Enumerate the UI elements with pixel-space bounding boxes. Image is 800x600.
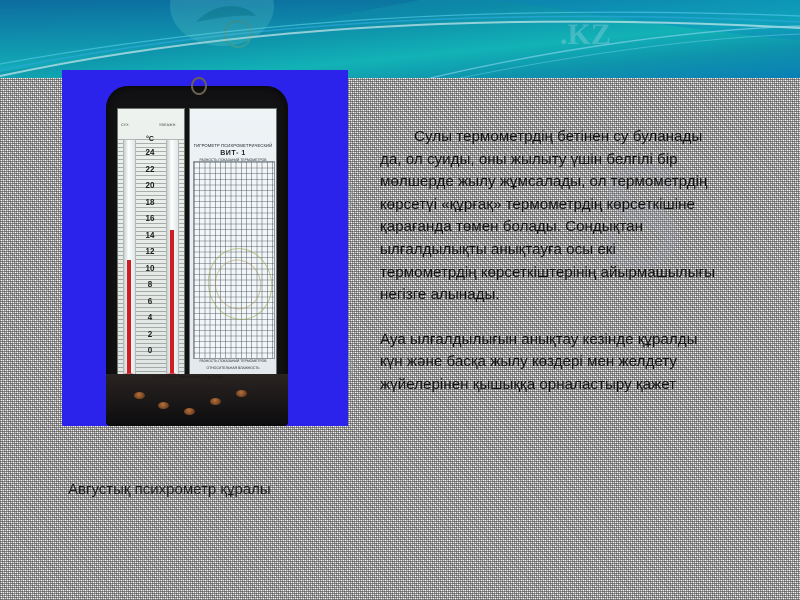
temperature-unit: °C	[137, 135, 163, 145]
slide-header-banner: .KZ	[0, 0, 800, 78]
device-model-label: ВИТ- 1	[190, 150, 276, 157]
wet-thermometer	[166, 139, 179, 379]
scale-tick-value: 22	[137, 162, 163, 179]
humidity-lookup-table	[193, 161, 275, 359]
scale-tick-value: 18	[137, 195, 163, 212]
scale-tick-value: 12	[137, 244, 163, 261]
scale-tick-value: 24	[137, 145, 163, 162]
device-type-title: ГИГРОМЕТР ПСИХРОМЕТРИЧЕСКИЙ	[190, 143, 276, 148]
svg-text:.KZ: .KZ	[560, 18, 611, 51]
scale-tick-value: 2	[137, 327, 163, 344]
photo-caption: Августық психрометр құралы	[68, 481, 358, 498]
scale-tick-value: 4	[137, 310, 163, 327]
scale-tick-value: 10	[137, 261, 163, 278]
thermometer-panel: СУХ. УВЛАЖН. °C 24 22 20 18 16	[117, 108, 185, 390]
scale-tick-value: 0	[137, 343, 163, 360]
scale-tick-value: 14	[137, 228, 163, 245]
vent-hole	[158, 402, 169, 409]
banner-graphic: .KZ	[0, 0, 800, 78]
scale-tick-value: 8	[137, 277, 163, 294]
scale-tick-value: 16	[137, 211, 163, 228]
table-footer-note-2: ОТНОСИТЕЛЬНАЯ ВЛАЖНОСТЬ	[194, 366, 272, 370]
wet-thermometer-mercury	[170, 230, 174, 378]
dry-thermometer	[123, 139, 136, 379]
vent-hole	[210, 398, 221, 405]
dry-thermometer-label: СУХ.	[121, 123, 130, 127]
humidity-table-panel: ГИГРОМЕТР ПСИХРОМЕТРИЧЕСКИЙ ВИТ- 1 РАЗНО…	[189, 108, 277, 390]
hanging-hook-icon	[191, 77, 207, 95]
wet-thermometer-label: УВЛАЖН.	[159, 123, 177, 127]
dry-thermometer-mercury	[127, 260, 131, 378]
watermark-swirl-icon	[201, 242, 277, 326]
slide-canvas: .KZ S S S СУХ. УВЛАЖН.	[0, 0, 800, 600]
paragraph-2: Ауа ылғалдылығын анықтау кезінде құралды…	[380, 329, 716, 397]
temperature-scale: °C 24 22 20 18 16 14 12 10 8 6 4 2 0	[137, 135, 163, 381]
vent-hole	[184, 408, 195, 415]
slide-body-text: Сулы термометрдің бетінен су буланады да…	[380, 126, 716, 397]
aspiration-speed-note: СКОРОСТЬ АСПИРАЦИИ от 0,5 до 1,0 м/с	[146, 375, 230, 379]
device-base	[106, 374, 288, 426]
vent-hole	[236, 390, 247, 397]
paragraph-1: Сулы термометрдің бетінен су буланады да…	[380, 126, 716, 307]
scale-tick-value: 20	[137, 178, 163, 195]
table-footer-note-1: РАЗНОСТЬ ПОКАЗАНИЙ ТЕРМОМЕТРОВ	[194, 359, 272, 363]
scale-tick-value: 6	[137, 294, 163, 311]
psychrometer-photo: СУХ. УВЛАЖН. °C 24 22 20 18 16	[62, 70, 348, 426]
vent-hole	[134, 392, 145, 399]
